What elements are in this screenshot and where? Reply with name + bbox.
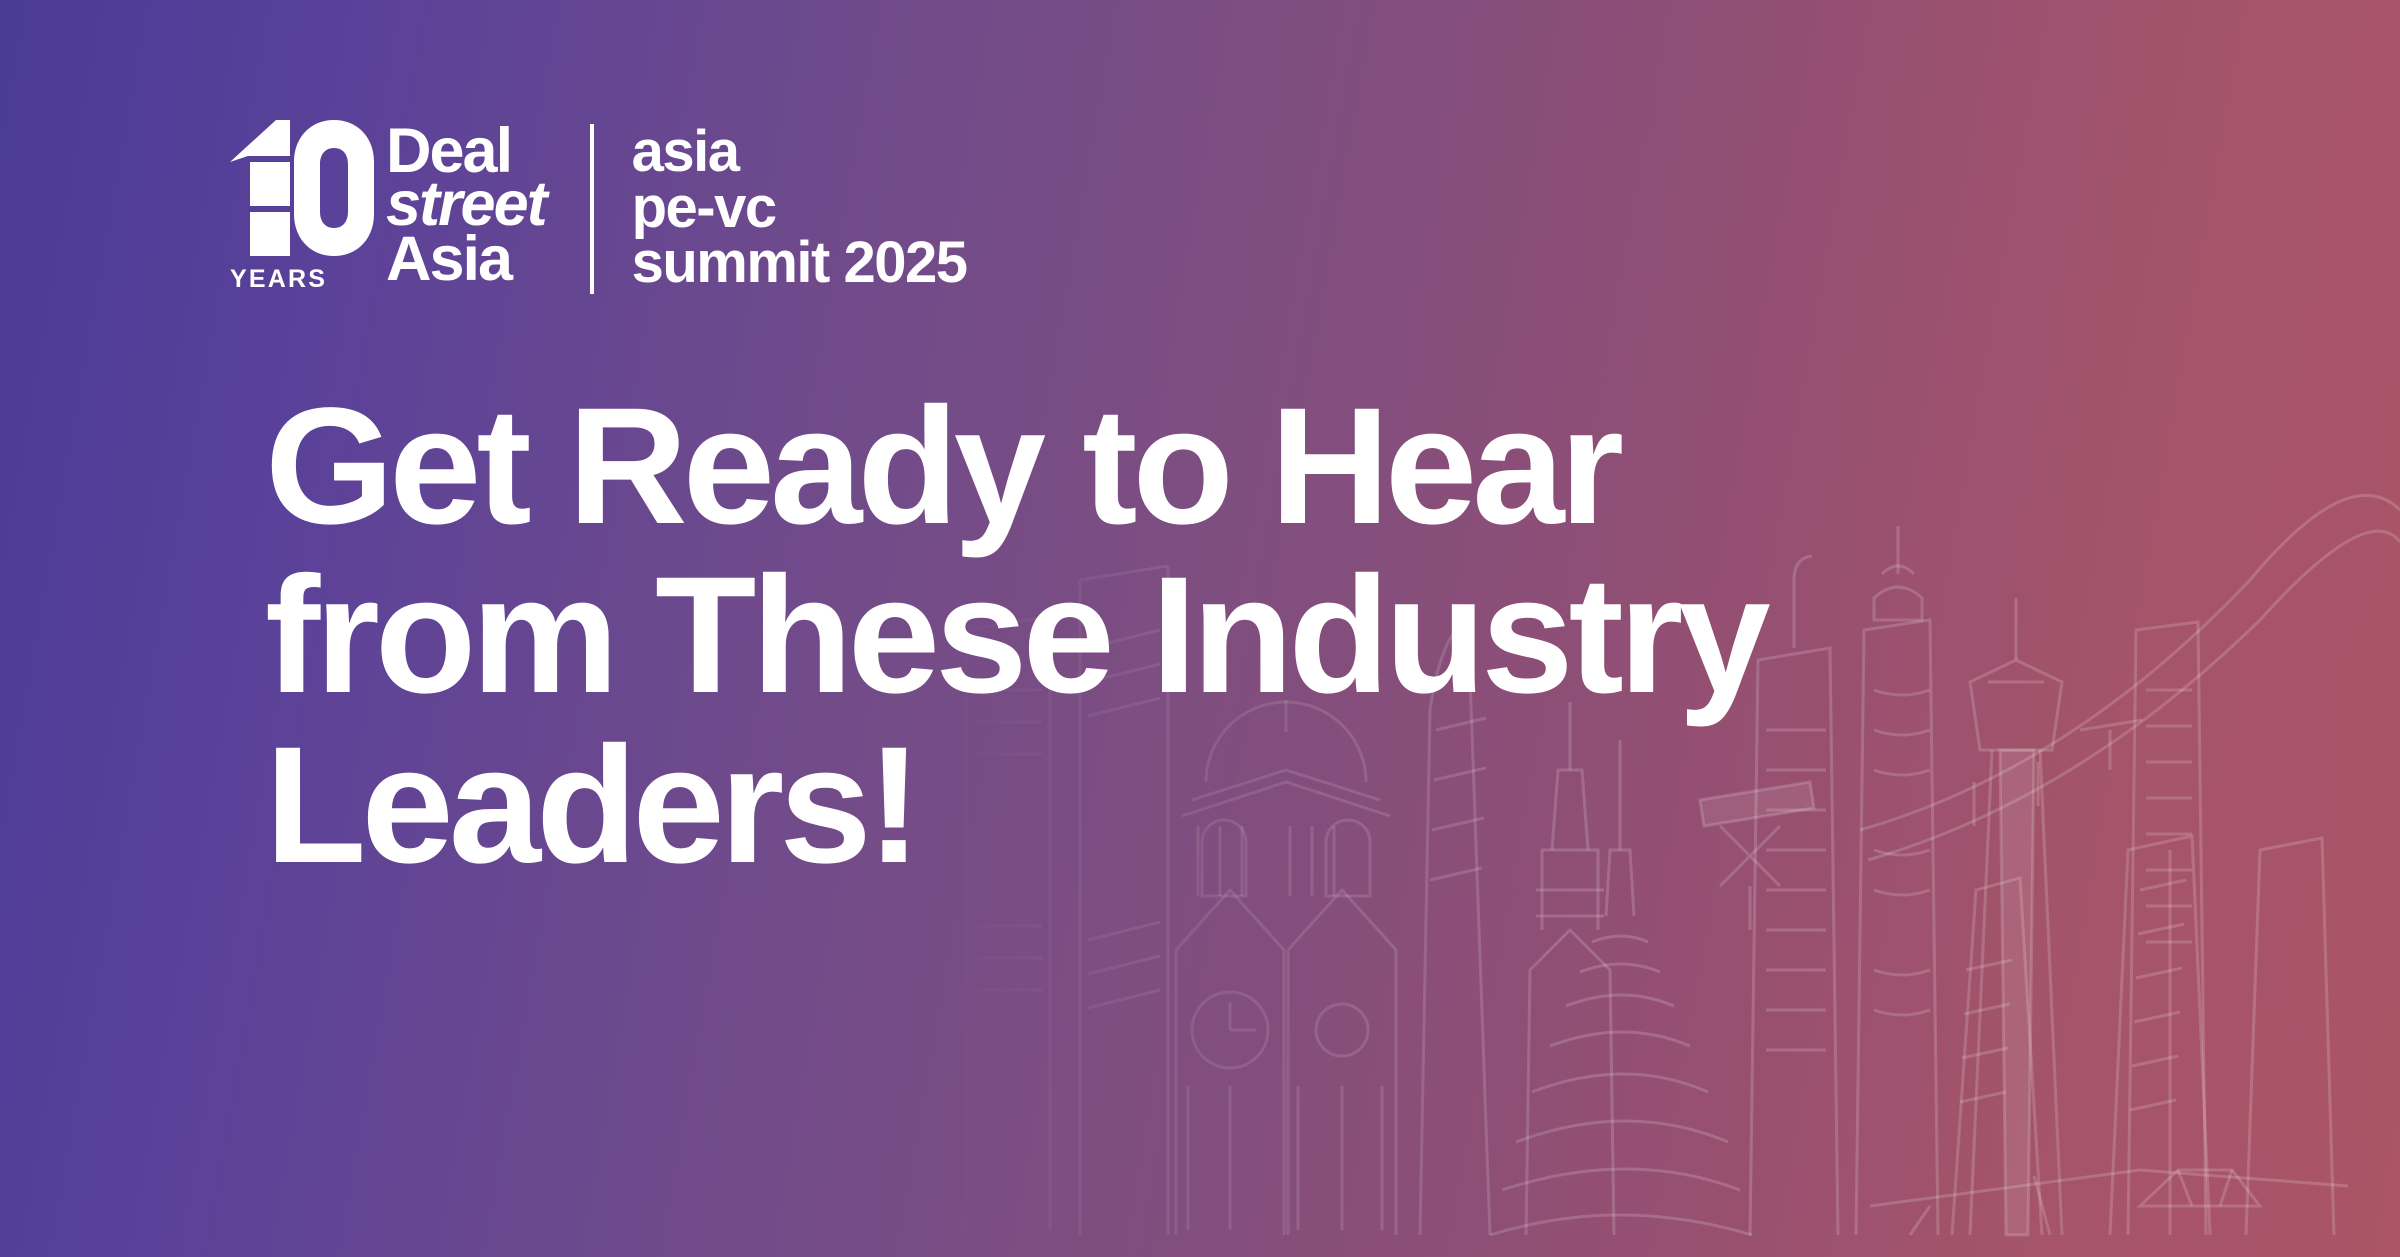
years-label: YEARS — [230, 265, 327, 294]
event-line-asia: asia — [632, 124, 967, 180]
brand-lockup: Deal street Asia YEARS asia pe-vc summit… — [228, 118, 967, 298]
lockup-divider — [590, 124, 594, 294]
headline: Get Ready to Hear from These Industry Le… — [265, 382, 2265, 890]
event-title: asia pe-vc summit 2025 — [632, 118, 967, 291]
event-line-summit: summit 2025 — [632, 235, 967, 291]
event-line-pe-vc: pe-vc — [632, 180, 967, 236]
promo-banner: Deal street Asia YEARS asia pe-vc summit… — [0, 0, 2400, 1257]
brand-wordmark: Deal street Asia — [386, 118, 546, 287]
dealstreetasia-logo: Deal street Asia YEARS — [228, 118, 546, 298]
brand-asia: Asia — [386, 232, 546, 287]
ten-years-anniversary-mark — [228, 118, 378, 258]
headline-line-1: Get Ready to Hear — [265, 382, 2265, 551]
headline-line-3: Leaders! — [265, 721, 2265, 890]
headline-line-2: from These Industry — [265, 551, 2265, 720]
